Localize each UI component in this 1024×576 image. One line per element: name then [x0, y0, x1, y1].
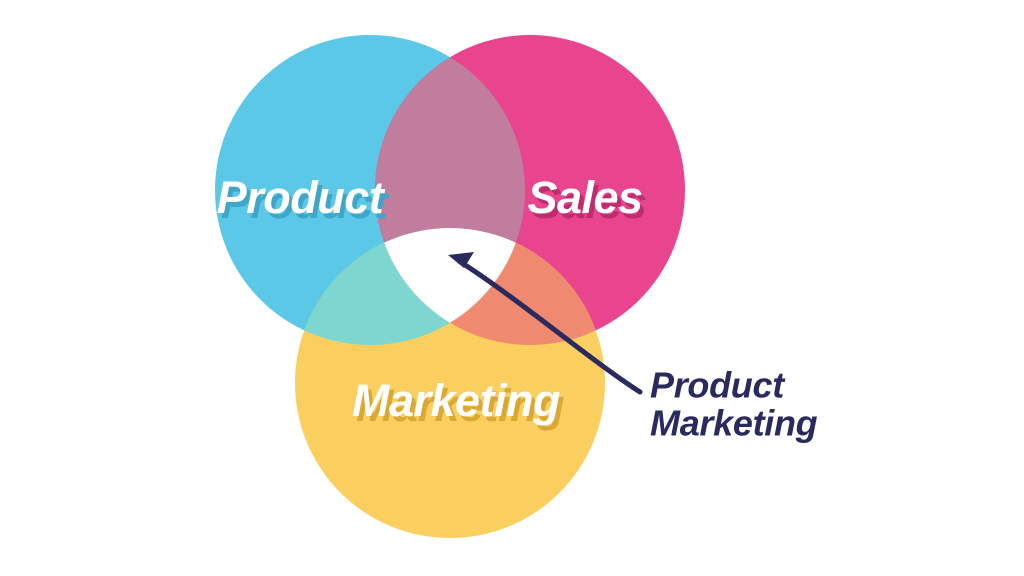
venn-diagram-canvas: Product Product Sales Sales Marketing Ma…	[0, 0, 1024, 576]
venn-label-product: Product	[217, 172, 386, 223]
callout-label-line1: Product	[650, 365, 786, 406]
callout-label-line2: Marketing	[650, 403, 818, 444]
venn-diagram-svg: Product Product Sales Sales Marketing Ma…	[0, 0, 1024, 576]
venn-label-marketing: Marketing	[352, 375, 560, 426]
venn-label-sales: Sales	[527, 172, 642, 223]
